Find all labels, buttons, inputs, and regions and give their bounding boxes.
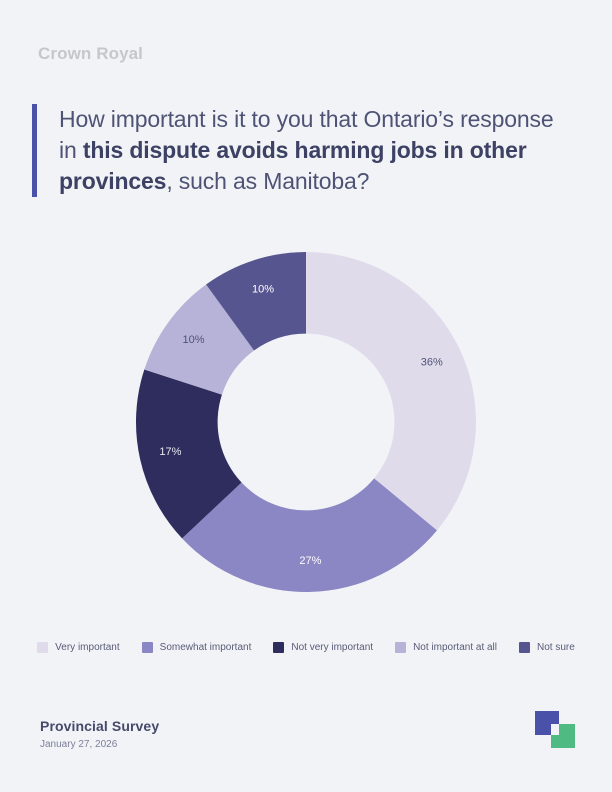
footer-date: January 27, 2026 xyxy=(40,739,159,750)
donut-chart-svg: 36%27%17%10%10% xyxy=(106,222,506,622)
legend-swatch xyxy=(142,642,153,653)
slice-value-label: 10% xyxy=(252,284,274,296)
footer: Provincial Survey January 27, 2026 xyxy=(40,710,576,750)
logo-notch xyxy=(551,724,559,735)
donut-chart: 36%27%17%10%10% xyxy=(0,222,612,622)
slice-value-label: 10% xyxy=(183,334,205,346)
legend-swatch xyxy=(273,642,284,653)
legend-label: Not important at all xyxy=(413,642,497,653)
logo xyxy=(534,710,576,750)
logo-icon xyxy=(534,710,576,750)
legend-swatch xyxy=(37,642,48,653)
legend-item[interactable]: Very important xyxy=(37,642,119,653)
survey-slide: Crown Royal How important is it to you t… xyxy=(0,0,612,792)
legend-item[interactable]: Not sure xyxy=(519,642,575,653)
chart-legend: Very importantSomewhat importantNot very… xyxy=(0,642,612,653)
legend-item[interactable]: Not important at all xyxy=(395,642,497,653)
legend-item[interactable]: Not very important xyxy=(273,642,373,653)
slice-value-label: 36% xyxy=(421,357,443,369)
legend-swatch xyxy=(395,642,406,653)
legend-label: Somewhat important xyxy=(160,642,252,653)
title-accent-bar xyxy=(32,104,37,197)
legend-label: Not sure xyxy=(537,642,575,653)
donut-slice[interactable] xyxy=(306,252,476,530)
legend-item[interactable]: Somewhat important xyxy=(142,642,252,653)
slice-value-label: 27% xyxy=(299,555,321,567)
slice-value-label: 17% xyxy=(159,446,181,458)
footer-text-group: Provincial Survey January 27, 2026 xyxy=(40,718,159,750)
footer-title: Provincial Survey xyxy=(40,718,159,734)
title-trail: , such as Manitoba? xyxy=(166,168,369,194)
title-block: How important is it to you that Ontario’… xyxy=(32,104,572,197)
brand-name: Crown Royal xyxy=(38,44,143,64)
legend-label: Very important xyxy=(55,642,119,653)
legend-label: Not very important xyxy=(291,642,373,653)
legend-swatch xyxy=(519,642,530,653)
page-title: How important is it to you that Ontario’… xyxy=(59,104,571,197)
